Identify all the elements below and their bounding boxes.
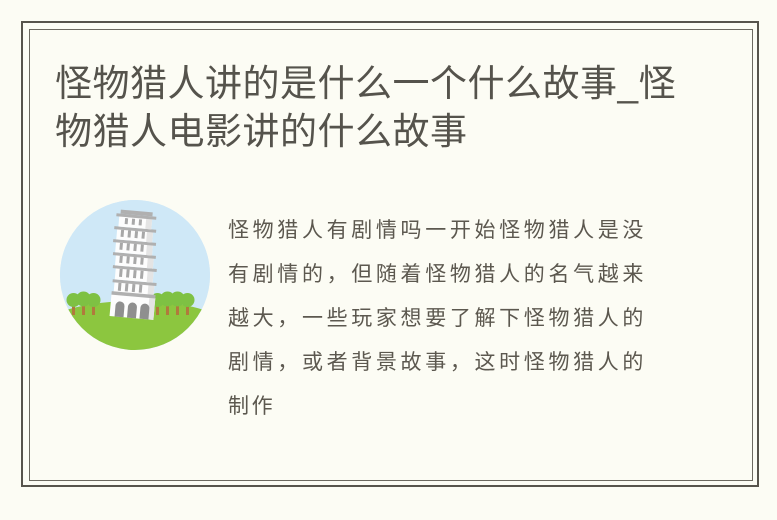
- page-title: 怪物猎人讲的是什么一个什么故事_怪物猎人电影讲的什么故事: [55, 60, 695, 156]
- article-thumbnail: [60, 200, 210, 350]
- article-card: 怪物猎人讲的是什么一个什么故事_怪物猎人电影讲的什么故事: [0, 0, 777, 520]
- article-body-text: 怪物猎人有剧情吗一开始怪物猎人是没有剧情的，但随着怪物猎人的名气越来越大，一些玩…: [228, 208, 646, 476]
- leaning-tower-of-pisa-icon: [60, 200, 210, 350]
